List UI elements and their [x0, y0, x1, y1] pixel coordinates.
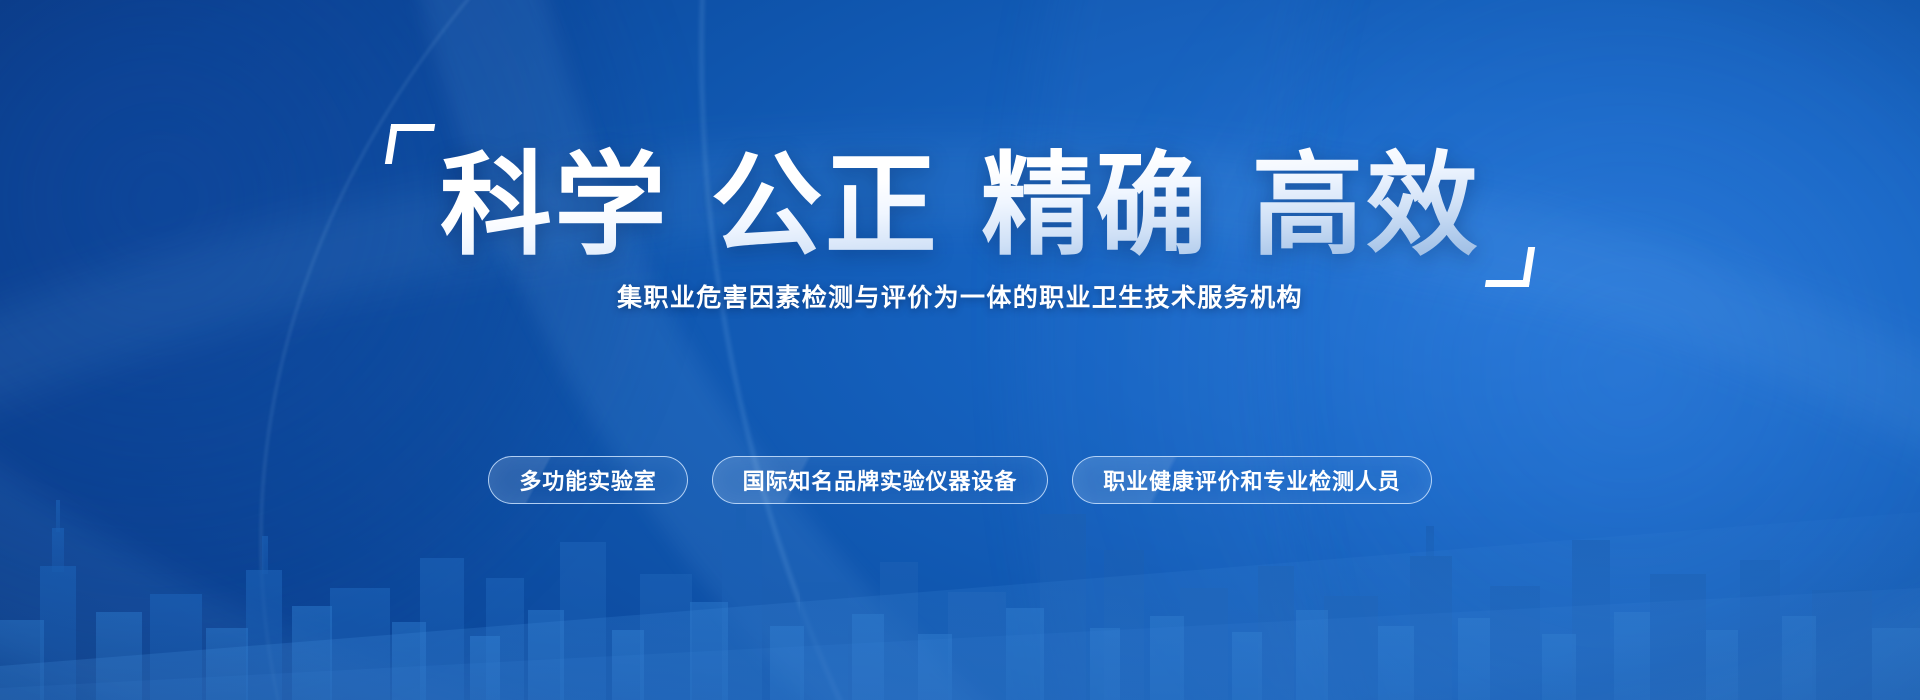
feature-pill-personnel[interactable]: 职业健康评价和专业检测人员 [1072, 456, 1431, 504]
headline-word-4: 高效 [1251, 143, 1479, 268]
hero-banner: 科学公正精确高效 集职业危害因素检测与评价为一体的职业卫生技术服务机构 多功能实… [0, 0, 1920, 700]
page-title: 科学公正精确高效 [440, 146, 1480, 267]
feature-pill-personnel-label: 职业健康评价和专业检测人员 [1103, 464, 1400, 496]
feature-pill-lab-label: 多功能实验室 [519, 464, 656, 496]
feature-pill-group: 多功能实验室 国际知名品牌实验仪器设备 职业健康评价和专业检测人员 [0, 456, 1920, 504]
feature-pill-equipment-label: 国际知名品牌实验仪器设备 [743, 464, 1018, 496]
feature-pill-equipment[interactable]: 国际知名品牌实验仪器设备 [712, 456, 1049, 504]
headline-word-1: 科学 [440, 143, 668, 268]
headline-word-3: 精确 [981, 143, 1209, 268]
banner-subtitle: 集职业危害因素检测与评价为一体的职业卫生技术服务机构 [0, 278, 1920, 314]
headline-box: 科学公正精确高效 [394, 146, 1526, 267]
bracket-open-icon [385, 124, 435, 164]
headline-word-2: 公正 [711, 143, 939, 268]
banner-content: 科学公正精确高效 集职业危害因素检测与评价为一体的职业卫生技术服务机构 多功能实… [0, 0, 1920, 700]
feature-pill-lab[interactable]: 多功能实验室 [488, 456, 687, 504]
headline-wrapper: 科学公正精确高效 [0, 146, 1920, 267]
